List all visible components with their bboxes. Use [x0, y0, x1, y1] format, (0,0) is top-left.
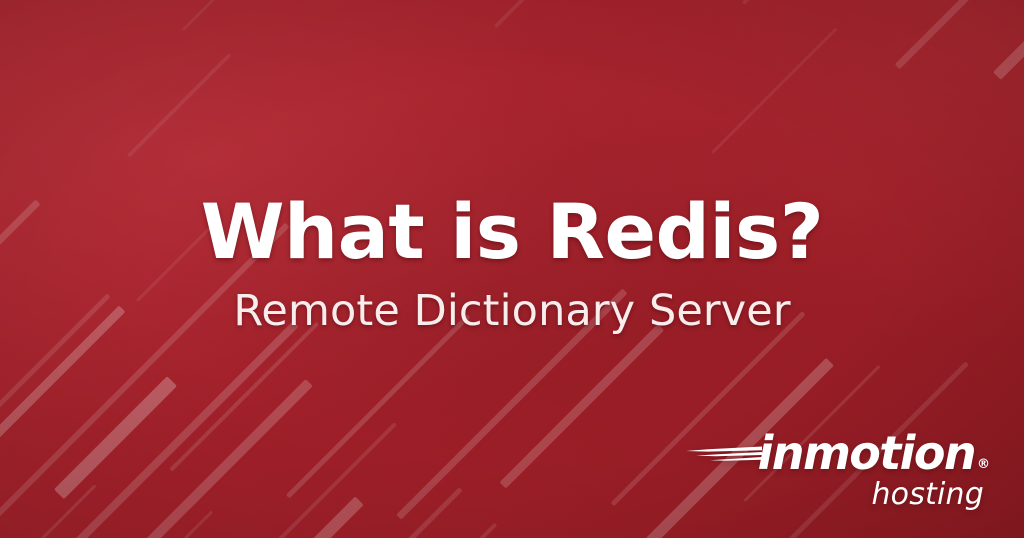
registered-trademark-icon: ®: [977, 458, 990, 471]
streak-line: [182, 0, 320, 31]
speed-swoosh-icon: [686, 438, 762, 468]
logo-tagline-text: hosting: [871, 480, 984, 510]
streak-line: [500, 325, 665, 490]
hero-banner: What is Redis? Remote Dictionary Server …: [0, 0, 1024, 538]
streak-line: [494, 0, 632, 28]
page-subtitle: Remote Dictionary Server: [0, 287, 1024, 335]
streak-line: [712, 28, 838, 154]
logo-wordmark-row: inmotion ®: [686, 430, 990, 476]
inmotion-hosting-logo[interactable]: inmotion ® hosting: [686, 430, 990, 510]
streak-line: [127, 54, 231, 158]
streak-line: [993, 0, 1024, 80]
banner-copy: What is Redis? Remote Dictionary Server: [0, 192, 1024, 335]
logo-brand-text: inmotion: [758, 430, 975, 476]
page-title: What is Redis?: [0, 192, 1024, 273]
streak-line: [743, 0, 915, 6]
